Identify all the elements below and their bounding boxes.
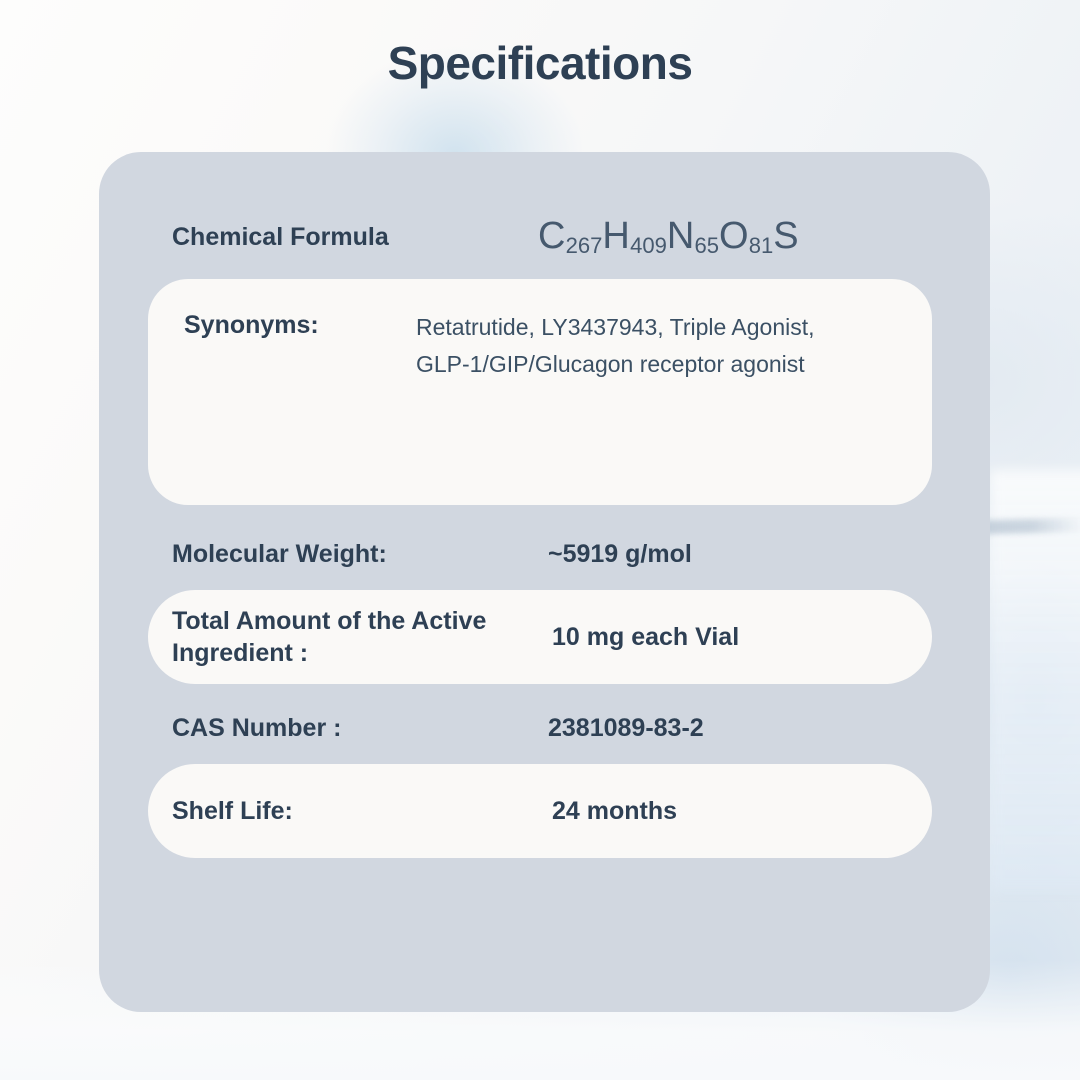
spec-label-molecular-weight: Molecular Weight: — [148, 538, 548, 570]
spec-row-chemical-formula: Chemical Formula C267H409N65O81S — [148, 205, 941, 269]
spec-row-total-amount: Total Amount of the Active Ingredient : … — [148, 590, 932, 684]
spec-value-molecular-weight: ~5919 g/mol — [548, 540, 692, 569]
spec-label-shelf-life: Shelf Life: — [148, 795, 552, 827]
spec-value-total-amount: 10 mg each Vial — [552, 623, 739, 652]
spec-value-chemical-formula: C267H409N65O81S — [538, 215, 799, 259]
formula-element-h: H — [602, 215, 630, 257]
spec-row-cas-number: CAS Number : 2381089-83-2 — [148, 698, 941, 758]
spec-row-shelf-life: Shelf Life: 24 months — [148, 764, 932, 858]
formula-count-o: 81 — [749, 233, 774, 258]
spec-value-synonyms: Retatrutide, LY3437943, Triple Agonist, … — [416, 309, 816, 384]
formula-element-o: O — [719, 215, 749, 257]
spec-value-cas-number: 2381089-83-2 — [548, 714, 704, 743]
spec-value-shelf-life: 24 months — [552, 797, 677, 826]
spec-label-cas-number: CAS Number : — [148, 712, 548, 744]
spec-row-synonyms: Synonyms: Retatrutide, LY3437943, Triple… — [148, 279, 932, 505]
specifications-card: Chemical Formula C267H409N65O81S Synonym… — [99, 152, 990, 1012]
formula-count-c: 267 — [566, 233, 603, 258]
spec-label-total-amount: Total Amount of the Active Ingredient : — [148, 605, 552, 669]
formula-element-s: S — [773, 215, 799, 257]
spec-label-chemical-formula: Chemical Formula — [148, 221, 538, 253]
formula-count-n: 65 — [695, 233, 720, 258]
formula-element-n: N — [667, 215, 695, 257]
formula-element-c: C — [538, 215, 566, 257]
spec-row-molecular-weight: Molecular Weight: ~5919 g/mol — [148, 524, 941, 584]
formula-count-h: 409 — [630, 233, 667, 258]
page-title: Specifications — [0, 36, 1080, 90]
spec-label-synonyms: Synonyms: — [148, 309, 416, 341]
